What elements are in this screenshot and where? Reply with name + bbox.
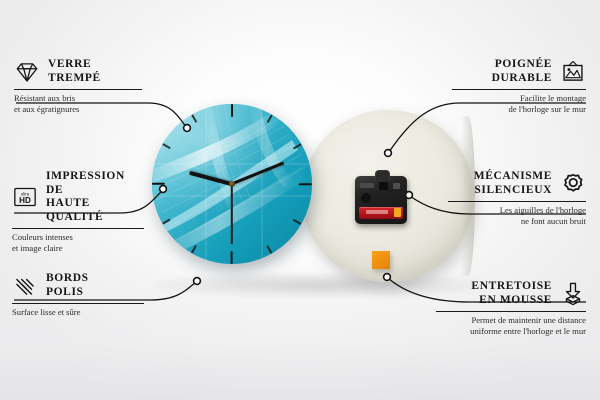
foam-spacer [372, 251, 390, 269]
feature-rule [12, 303, 144, 304]
feature-title: IMPRESSION DE HAUTE QUALITÉ [46, 170, 144, 224]
clock-second-hand [231, 184, 233, 244]
feature-description: Facilite le montage de l'horloge sur le … [452, 93, 586, 114]
feature-header: POIGNÉE DURABLE [452, 58, 586, 85]
clock-mechanism [355, 176, 407, 224]
mechanism-hanger-tab [375, 170, 390, 180]
feature-title: BORDS POLIS [46, 272, 89, 299]
battery-label-strip [366, 210, 388, 214]
feature-entretoise-en-mousse[interactable]: ENTRETOISE EN MOUSSE Permet de maintenir… [436, 280, 586, 336]
feature-header: VERRE TREMPÉ [14, 58, 142, 85]
foam-spacer-icon [560, 281, 586, 307]
mechanism-detail [360, 183, 374, 188]
feature-mecanisme-silencieux[interactable]: MÉCANISME SILENCIEUX Les aiguilles de l'… [448, 170, 586, 226]
feature-rule [448, 201, 586, 202]
battery-positive-terminal [394, 208, 401, 217]
gear-icon [560, 171, 586, 197]
mechanism-detail [361, 193, 371, 203]
feature-header: MÉCANISME SILENCIEUX [448, 170, 586, 197]
mechanism-detail [379, 182, 388, 190]
clock-center-cap [229, 181, 235, 187]
ultra-hd-icon: ultra HD [12, 184, 38, 210]
feature-rule [452, 89, 586, 90]
feature-rule [436, 311, 586, 312]
feature-title: MÉCANISME SILENCIEUX [474, 170, 552, 197]
feature-title: POIGNÉE DURABLE [492, 58, 552, 85]
feature-description: Les aiguilles de l'horloge ne font aucun… [448, 205, 586, 226]
feature-header: BORDS POLIS [12, 272, 144, 299]
polished-edges-icon [12, 273, 38, 299]
hanging-frame-icon [560, 59, 586, 85]
feature-rule [14, 89, 142, 90]
feature-description: Permet de maintenir une distance uniform… [436, 315, 586, 336]
feature-rule [12, 228, 144, 229]
clock-face [152, 104, 312, 264]
feature-description: Surface lisse et sûre [12, 307, 144, 317]
feature-impression-haute-qualite[interactable]: ultra HD IMPRESSION DE HAUTE QUALITÉ Cou… [12, 170, 144, 253]
feature-title: VERRE TREMPÉ [48, 58, 101, 85]
feature-description: Résistant aux bris et aux égratignures [14, 93, 142, 114]
feature-header: ultra HD IMPRESSION DE HAUTE QUALITÉ [12, 170, 144, 224]
feature-title: ENTRETOISE EN MOUSSE [471, 280, 552, 307]
diamond-icon [14, 59, 40, 85]
feature-verre-trempe[interactable]: VERRE TREMPÉ Résistant aux bris et aux é… [14, 58, 142, 114]
svg-text:HD: HD [19, 196, 31, 205]
mechanism-detail [393, 183, 400, 189]
feature-bords-polis[interactable]: BORDS POLIS Surface lisse et sûre [12, 272, 144, 318]
infographic-canvas: VERRE TREMPÉ Résistant aux bris et aux é… [0, 0, 600, 400]
feature-description: Couleurs intenses et image claire [12, 232, 144, 253]
feature-poignee-durable[interactable]: POIGNÉE DURABLE Facilite le montage de l… [452, 58, 586, 114]
battery [359, 207, 403, 219]
feature-header: ENTRETOISE EN MOUSSE [436, 280, 586, 307]
